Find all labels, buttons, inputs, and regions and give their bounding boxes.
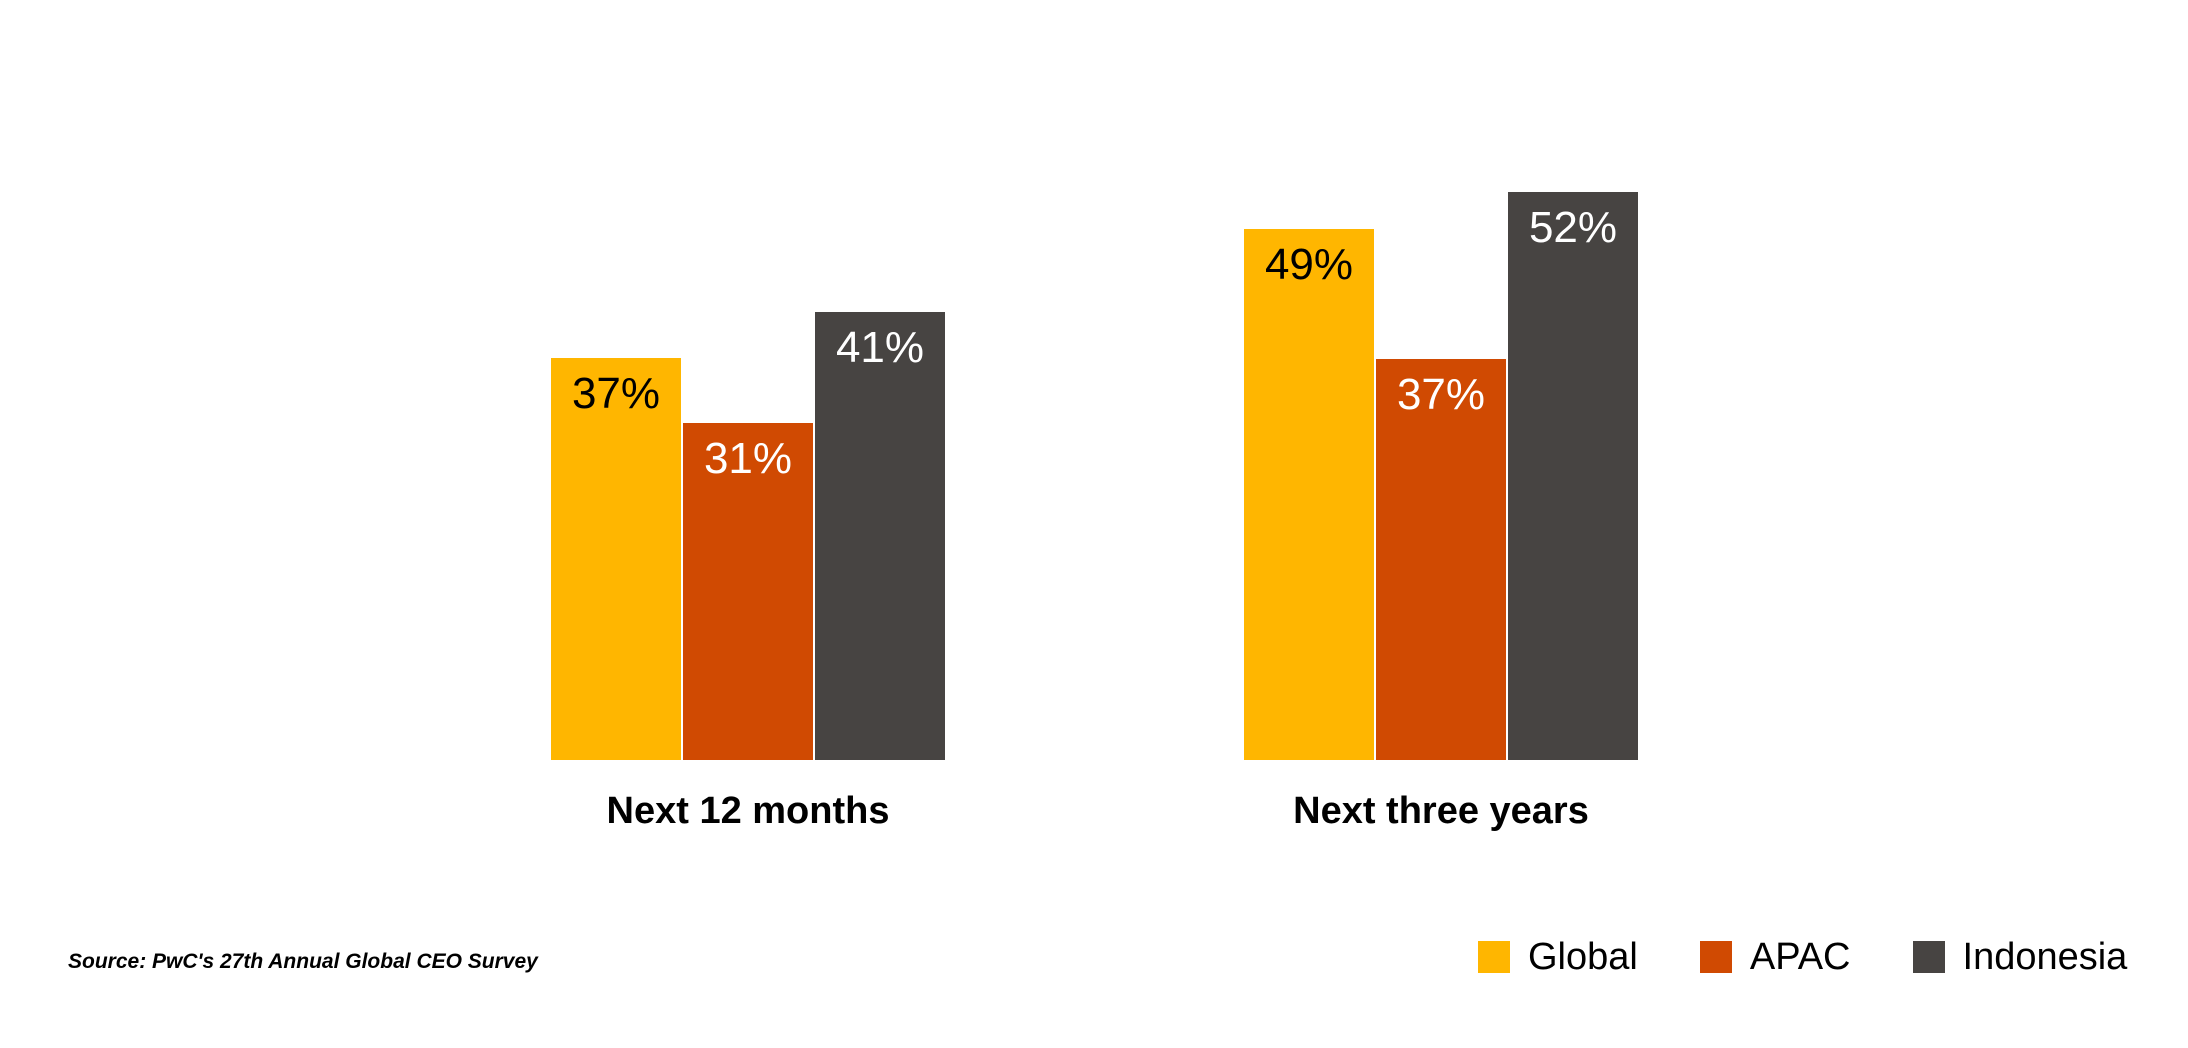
legend-label: APAC: [1750, 938, 1851, 976]
bar-group-next-12-months: 37% 31% 41%: [551, 37, 945, 760]
bar-value-label: 31%: [683, 437, 813, 481]
chart-legend: Global APAC Indonesia: [1478, 938, 2127, 976]
bar-global-next-three-years[interactable]: 49%: [1244, 229, 1374, 760]
legend-swatch-icon: [1700, 941, 1732, 973]
bar-value-label: 37%: [551, 372, 681, 416]
legend-swatch-icon: [1913, 941, 1945, 973]
legend-label: Global: [1528, 938, 1638, 976]
bar-value-label: 49%: [1244, 243, 1374, 287]
category-label-next-three-years: Next three years: [1244, 790, 1638, 833]
legend-item-indonesia[interactable]: Indonesia: [1913, 938, 2128, 976]
legend-label: Indonesia: [1963, 938, 2128, 976]
bar-indonesia-next-12-months[interactable]: 41%: [815, 312, 945, 760]
category-label-next-12-months: Next 12 months: [551, 790, 945, 833]
chart-canvas: 37% 31% 41% 49% 37% 52% Next 12 months N…: [0, 0, 2188, 1048]
source-note: Source: PwC's 27th Annual Global CEO Sur…: [68, 950, 538, 974]
legend-item-apac[interactable]: APAC: [1700, 938, 1851, 976]
legend-swatch-icon: [1478, 941, 1510, 973]
bar-value-label: 52%: [1508, 206, 1638, 250]
bar-value-label: 37%: [1376, 373, 1506, 417]
bar-group-next-three-years: 49% 37% 52%: [1244, 37, 1638, 760]
bar-indonesia-next-three-years[interactable]: 52%: [1508, 192, 1638, 760]
bar-value-label: 41%: [815, 326, 945, 370]
bar-global-next-12-months[interactable]: 37%: [551, 358, 681, 760]
bar-apac-next-12-months[interactable]: 31%: [683, 423, 813, 760]
legend-item-global[interactable]: Global: [1478, 938, 1638, 976]
plot-area: 37% 31% 41% 49% 37% 52%: [0, 0, 2188, 760]
bar-apac-next-three-years[interactable]: 37%: [1376, 359, 1506, 760]
